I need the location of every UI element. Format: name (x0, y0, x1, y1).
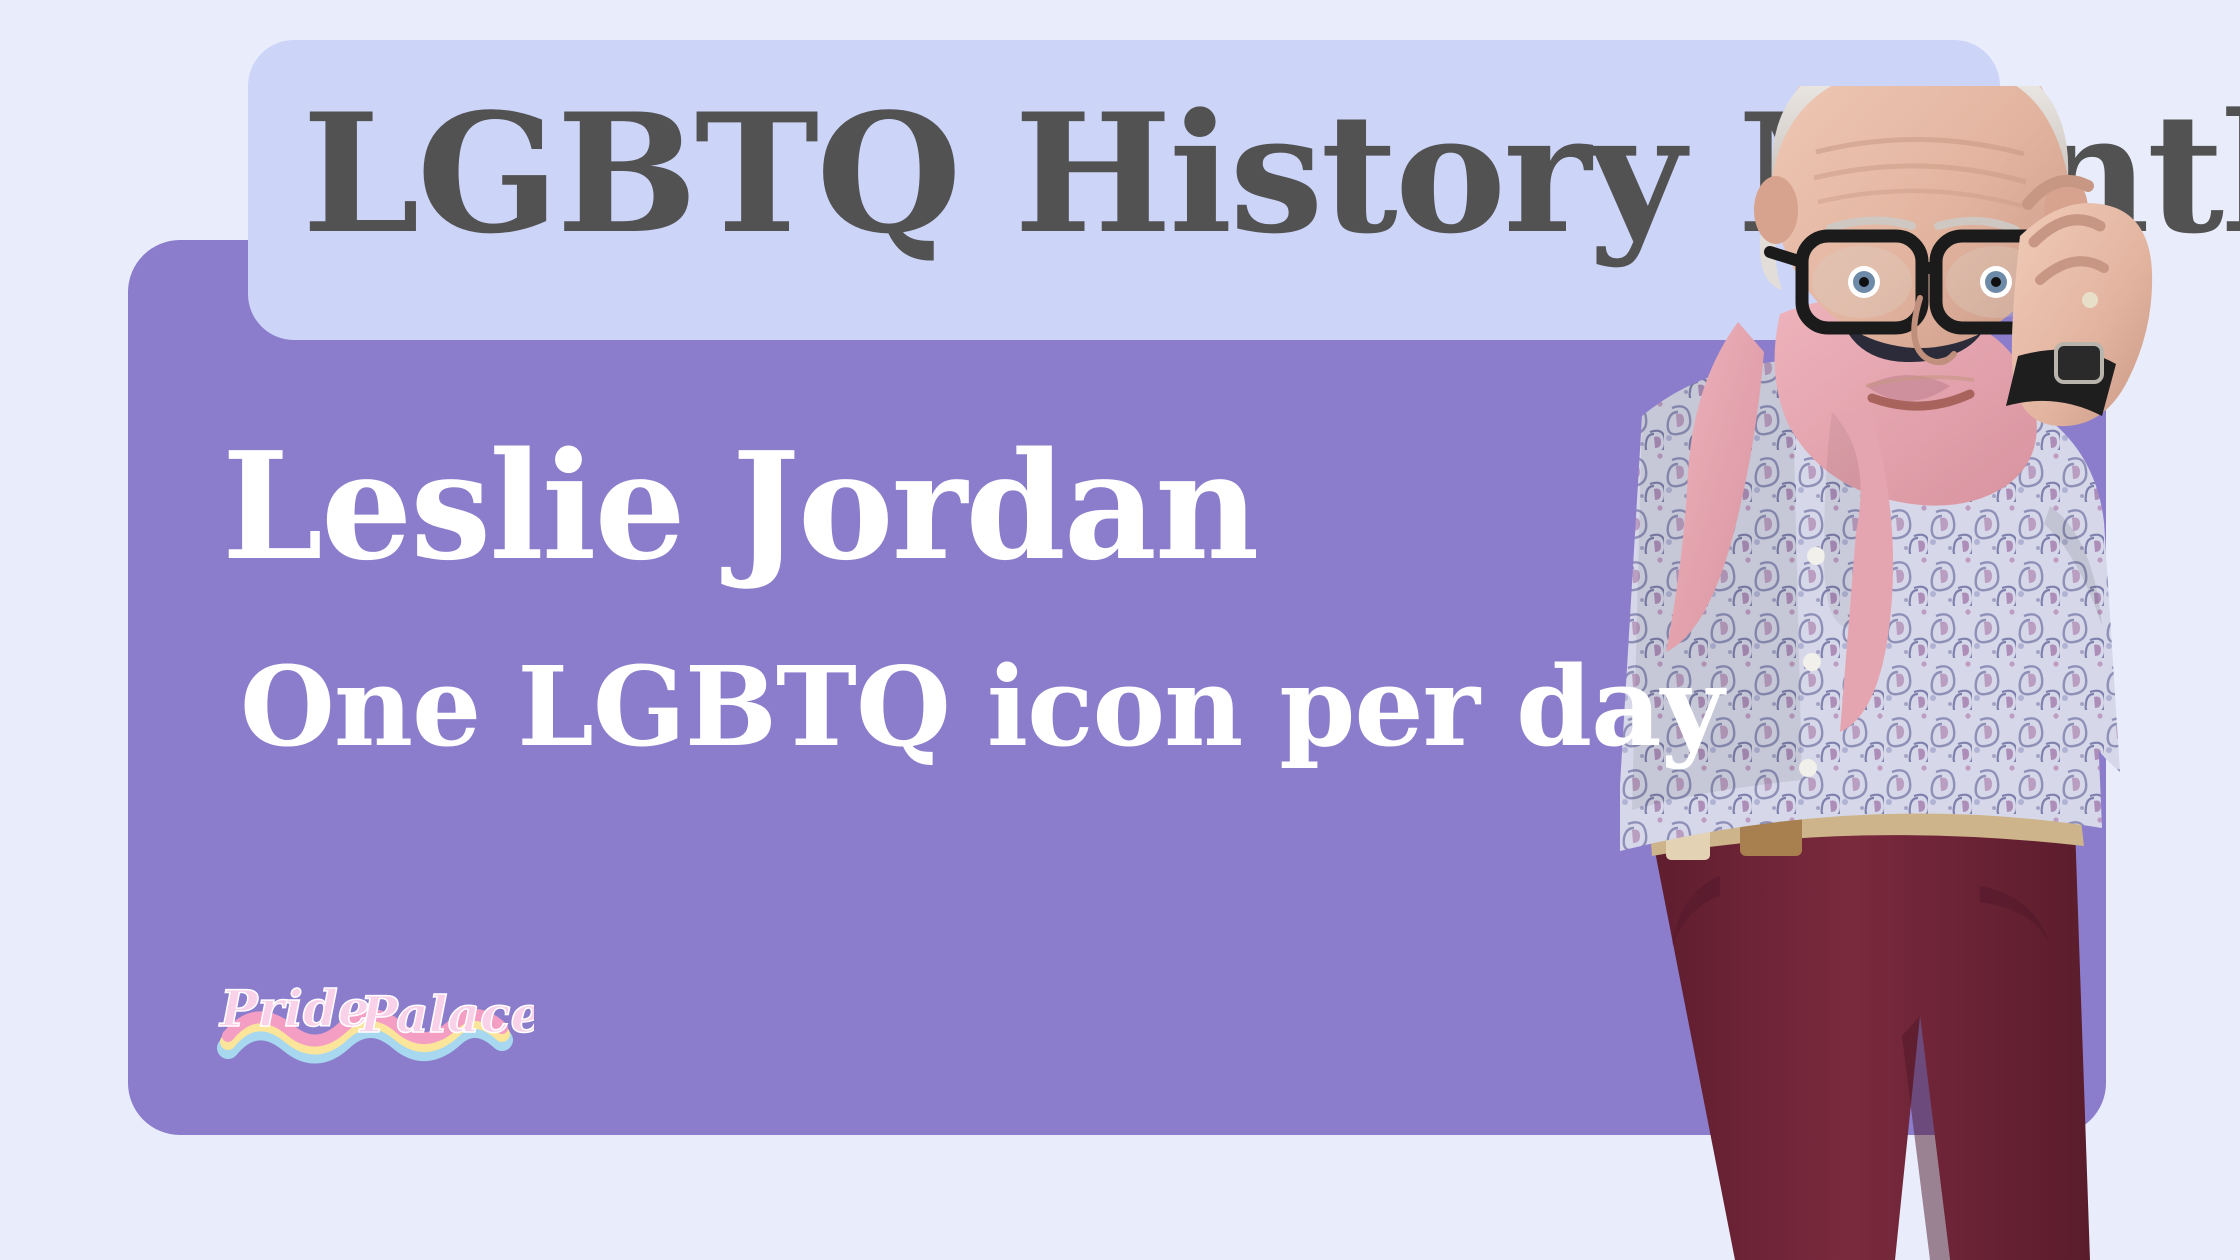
headline-name: Leslie Jordan (222, 432, 1257, 580)
brand-logo[interactable]: Pride Palace (214, 962, 534, 1074)
poster-canvas: LGBTQ History Month (0, 0, 2240, 1260)
logo-word-palace: Palace (358, 985, 534, 1044)
logo-word-pride: Pride (218, 979, 370, 1038)
headline-subtitle: One LGBTQ icon per day (240, 652, 1723, 762)
